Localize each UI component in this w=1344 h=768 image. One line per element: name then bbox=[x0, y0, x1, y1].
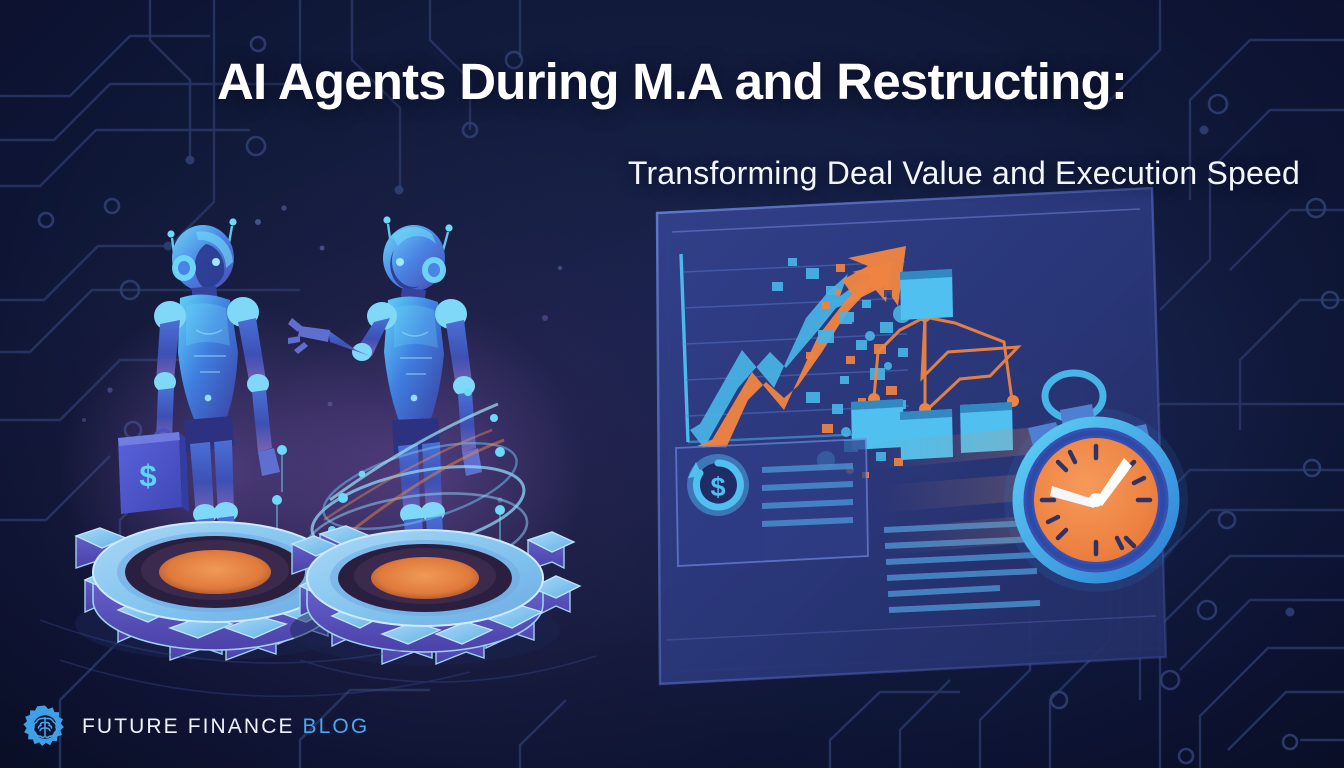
robot-scene: $ bbox=[0, 0, 1344, 768]
brand-name-secondary: BLOG bbox=[303, 715, 370, 738]
brand-name-primary: FUTURE FINANCE bbox=[82, 715, 295, 738]
page-subtitle: Transforming Deal Value and Execution Sp… bbox=[628, 155, 1300, 192]
poster-canvas: $ bbox=[0, 0, 1344, 768]
gear-platform-right bbox=[290, 530, 580, 665]
gear-brain-icon bbox=[22, 704, 68, 750]
header-block: AI Agents During M.A and Restructing: bbox=[0, 54, 1344, 109]
svg-text:$: $ bbox=[139, 458, 156, 493]
page-title: AI Agents During M.A and Restructing: bbox=[0, 54, 1344, 109]
briefcase-dollar: $ bbox=[118, 430, 189, 514]
brand-logo[interactable]: FUTURE FINANCE BLOG bbox=[22, 704, 369, 750]
brand-name: FUTURE FINANCE BLOG bbox=[82, 715, 369, 739]
